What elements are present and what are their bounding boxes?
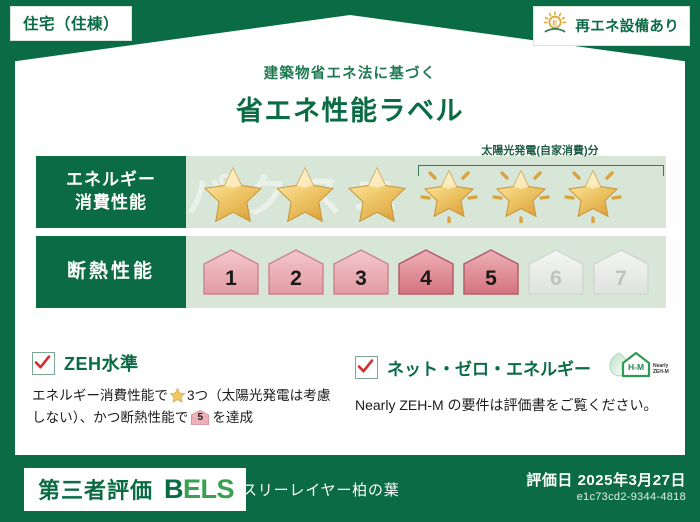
bels-japanese-label: 第三者評価 — [38, 473, 153, 505]
star-icon-2 — [272, 161, 338, 223]
insulation-level-1: 1 — [200, 246, 262, 298]
insulation-row-label: 断熱性能 — [36, 236, 186, 308]
insulation-level-7-number: 7 — [590, 267, 652, 291]
star-icon-4-solar — [416, 161, 482, 223]
bels-logo-els: ELS — [183, 474, 234, 504]
label-titles: 建築物省エネ法に基づく 省エネ性能ラベル — [0, 62, 700, 128]
insulation-level-6-number: 6 — [525, 267, 587, 291]
zeh-text-part-1: エネルギー消費性能で — [32, 388, 168, 403]
insulation-level-1-number: 1 — [200, 267, 262, 291]
insulation-level-3-number: 3 — [330, 267, 392, 291]
svg-text:H-M: H-M — [628, 362, 644, 372]
insulation-row-body: 1 2 3 — [186, 236, 666, 308]
bels-logo-b: B — [164, 474, 183, 504]
label-footer: 第三者評価 BELS スリーレイヤー柏の葉 評価日 2025年3月27日 e1c… — [0, 455, 700, 522]
evaluation-id: e1c73cd2-9344-4818 — [577, 491, 686, 503]
solar-sun-icon: E — [542, 11, 568, 40]
bels-evaluation-badge: 第三者評価 BELS — [24, 468, 246, 511]
star-rating-group — [186, 161, 626, 223]
red-check-icon — [32, 352, 55, 375]
insulation-level-4: 4 — [395, 246, 457, 298]
zeh-standard-title: ZEH水準 — [64, 350, 139, 376]
title-main: 省エネ性能ラベル — [0, 89, 700, 128]
zeh-standard-text: エネルギー消費性能で3つ（太陽光発電は考慮しない）、かつ断熱性能で5を達成 — [32, 385, 333, 429]
renewable-equipment-badge: E 再エネ設備あり — [533, 6, 690, 46]
net-zero-title: ネット・ゼロ・エネルギー — [387, 355, 591, 380]
insulation-level-5: 5 — [460, 246, 522, 298]
energy-row-label-line2: 消費性能 — [75, 192, 147, 215]
bels-logo: BELS — [164, 474, 234, 505]
insulation-level-2-number: 2 — [265, 267, 327, 291]
solar-bracket-caption: 太陽光発電(自家消費)分 — [414, 142, 666, 158]
inline-house-level-number: 5 — [190, 410, 210, 426]
insulation-performance-row: 断熱性能 — [36, 236, 666, 308]
rating-rows: パクスニ エネルギー 消費性能 太陽光発電(自家消費)分 — [36, 156, 666, 316]
energy-performance-row: パクスニ エネルギー 消費性能 太陽光発電(自家消費)分 — [36, 156, 666, 228]
energy-row-label: エネルギー 消費性能 — [36, 156, 186, 228]
insulation-level-2: 2 — [265, 246, 327, 298]
insulation-level-6: 6 — [525, 246, 587, 298]
svg-text:ZEH-M: ZEH-M — [653, 369, 669, 375]
energy-row-label-line1: エネルギー — [66, 169, 156, 192]
title-subtitle: 建築物省エネ法に基づく — [0, 62, 700, 83]
net-zero-text: Nearly ZEH-M の要件は評価書をご覧ください。 — [355, 394, 672, 417]
net-zero-energy-block: ネット・ゼロ・エネルギー H-M Nearly — [355, 350, 672, 429]
renewable-badge-label: 再エネ設備あり — [575, 15, 679, 36]
insulation-level-5-number: 5 — [460, 267, 522, 291]
zeh-text-part-3: を達成 — [212, 410, 253, 425]
insulation-level-3: 3 — [330, 246, 392, 298]
energy-row-body: 太陽光発電(自家消費)分 — [186, 156, 666, 228]
building-type-tag: 住宅（住棟） — [10, 6, 132, 41]
certification-info: ZEH水準 エネルギー消費性能で3つ（太陽光発電は考慮しない）、かつ断熱性能で5… — [32, 350, 672, 429]
energy-performance-label: 住宅（住棟） E 再エネ設備あり 建築物省エネ法に基づく — [0, 0, 700, 522]
property-name: スリーレイヤー柏の葉 — [242, 479, 400, 500]
star-icon-5-solar — [488, 161, 554, 223]
net-zero-header: ネット・ゼロ・エネルギー H-M Nearly — [355, 350, 672, 385]
insulation-level-7: 7 — [590, 246, 652, 298]
insulation-level-4-number: 4 — [395, 267, 457, 291]
evaluation-date: 評価日 2025年3月27日 — [526, 469, 686, 490]
inline-gold-star-icon — [169, 386, 186, 403]
star-icon-3 — [344, 161, 410, 223]
star-icon-1 — [200, 161, 266, 223]
insulation-level-group: 1 2 3 — [186, 246, 652, 298]
svg-text:E: E — [553, 19, 558, 28]
zeh-standard-block: ZEH水準 エネルギー消費性能で3つ（太陽光発電は考慮しない）、かつ断熱性能で5… — [32, 350, 333, 429]
inline-house-level-icon: 5 — [190, 409, 210, 426]
red-check-icon — [355, 356, 378, 379]
star-icon-6-solar — [560, 161, 626, 223]
nearly-zeh-m-logo: H-M Nearly ZEH-M — [606, 350, 672, 385]
zeh-standard-header: ZEH水準 — [32, 350, 333, 376]
